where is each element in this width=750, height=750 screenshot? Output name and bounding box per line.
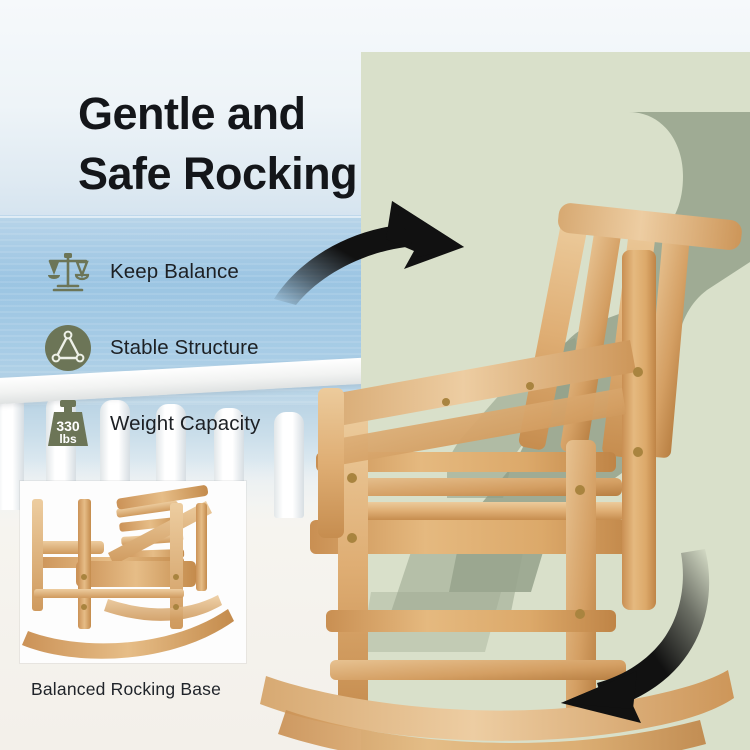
headline-line-1: Gentle and — [78, 88, 306, 139]
inset-caption: Balanced Rocking Base — [31, 679, 221, 700]
feature-item-stable-structure: Stable Structure — [40, 319, 260, 377]
curved-arrow-right-icon — [268, 195, 508, 305]
feature-item-keep-balance: Keep Balance — [40, 243, 260, 301]
feature-label: Weight Capacity — [110, 412, 260, 436]
feature-item-weight-capacity: 330 lbs Weight Capacity — [40, 395, 260, 453]
balance-scale-icon — [40, 244, 96, 300]
rocking-chair-base-illustration — [20, 481, 246, 663]
feature-list: Keep Balance Stable Structure — [40, 243, 260, 471]
weight-icon: 330 lbs — [40, 396, 96, 452]
page-title: Gentle and Safe Rocking — [78, 84, 408, 204]
rock-backward-arrow — [545, 545, 730, 735]
weight-unit: lbs — [59, 432, 77, 446]
inset-product-photo — [20, 481, 246, 663]
rock-forward-arrow — [268, 195, 508, 305]
product-feature-graphic: Gentle and Safe Rocking — [0, 0, 750, 750]
feature-label: Keep Balance — [110, 260, 239, 284]
curved-arrow-left-icon — [545, 545, 730, 735]
triangle-truss-icon — [40, 320, 96, 376]
feature-label: Stable Structure — [110, 336, 259, 360]
